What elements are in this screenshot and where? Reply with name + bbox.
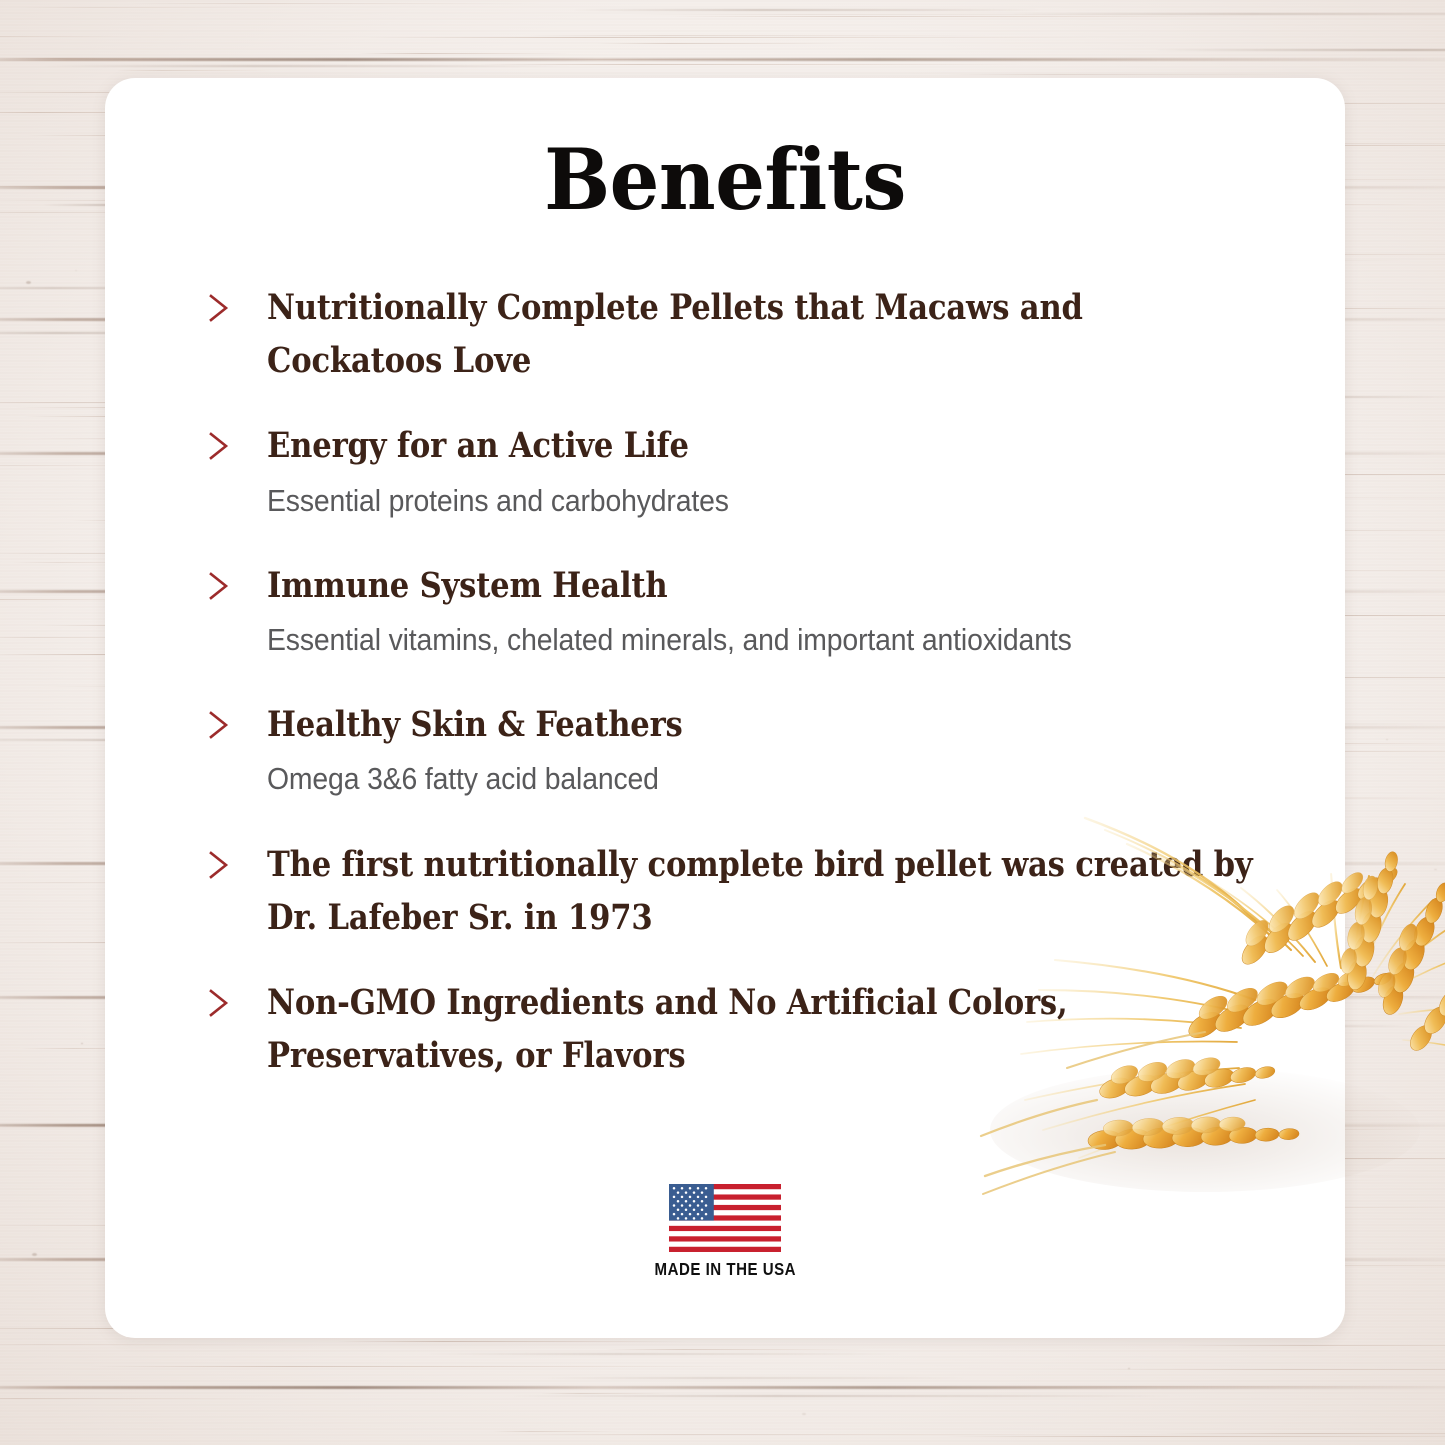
benefit-heading: Healthy Skin & Feathers xyxy=(267,698,1263,751)
benefit-subtext: Essential proteins and carbohydrates xyxy=(267,478,1262,523)
chevron-right-icon xyxy=(207,988,233,1018)
benefit-item: Immune System Health Essential vitamins,… xyxy=(205,559,1265,662)
benefit-heading: Immune System Health xyxy=(267,559,1263,612)
benefit-heading: The first nutritionally complete bird pe… xyxy=(267,838,1263,944)
benefit-subtext: Essential vitamins, chelated minerals, a… xyxy=(267,617,1262,662)
chevron-right-icon xyxy=(207,431,233,461)
benefit-item: Nutritionally Complete Pellets that Maca… xyxy=(205,281,1265,387)
benefit-heading: Nutritionally Complete Pellets that Maca… xyxy=(267,281,1263,387)
benefit-heading: Energy for an Active Life xyxy=(267,419,1263,472)
benefit-heading: Non-GMO Ingredients and No Artificial Co… xyxy=(267,976,1263,1082)
benefits-card: Benefits Nutritionally Complete Pellets … xyxy=(105,78,1345,1338)
benefit-item: Healthy Skin & Feathers Omega 3&6 fatty … xyxy=(205,698,1265,801)
page-title: Benefits xyxy=(148,138,1301,222)
chevron-right-icon xyxy=(207,293,233,323)
benefit-item: Non-GMO Ingredients and No Artificial Co… xyxy=(205,976,1265,1082)
made-in-usa-badge: MADE IN THE USA xyxy=(105,1184,1345,1280)
chevron-right-icon xyxy=(207,710,233,740)
benefits-list: Nutritionally Complete Pellets that Maca… xyxy=(205,281,1265,1114)
chevron-right-icon xyxy=(207,850,233,880)
benefit-item: The first nutritionally complete bird pe… xyxy=(205,838,1265,944)
benefit-item: Energy for an Active Life Essential prot… xyxy=(205,419,1265,522)
chevron-right-icon xyxy=(207,571,233,601)
benefit-subtext: Omega 3&6 fatty acid balanced xyxy=(267,756,1262,801)
usa-flag-icon xyxy=(669,1184,781,1252)
made-in-usa-label: MADE IN THE USA xyxy=(654,1259,796,1280)
